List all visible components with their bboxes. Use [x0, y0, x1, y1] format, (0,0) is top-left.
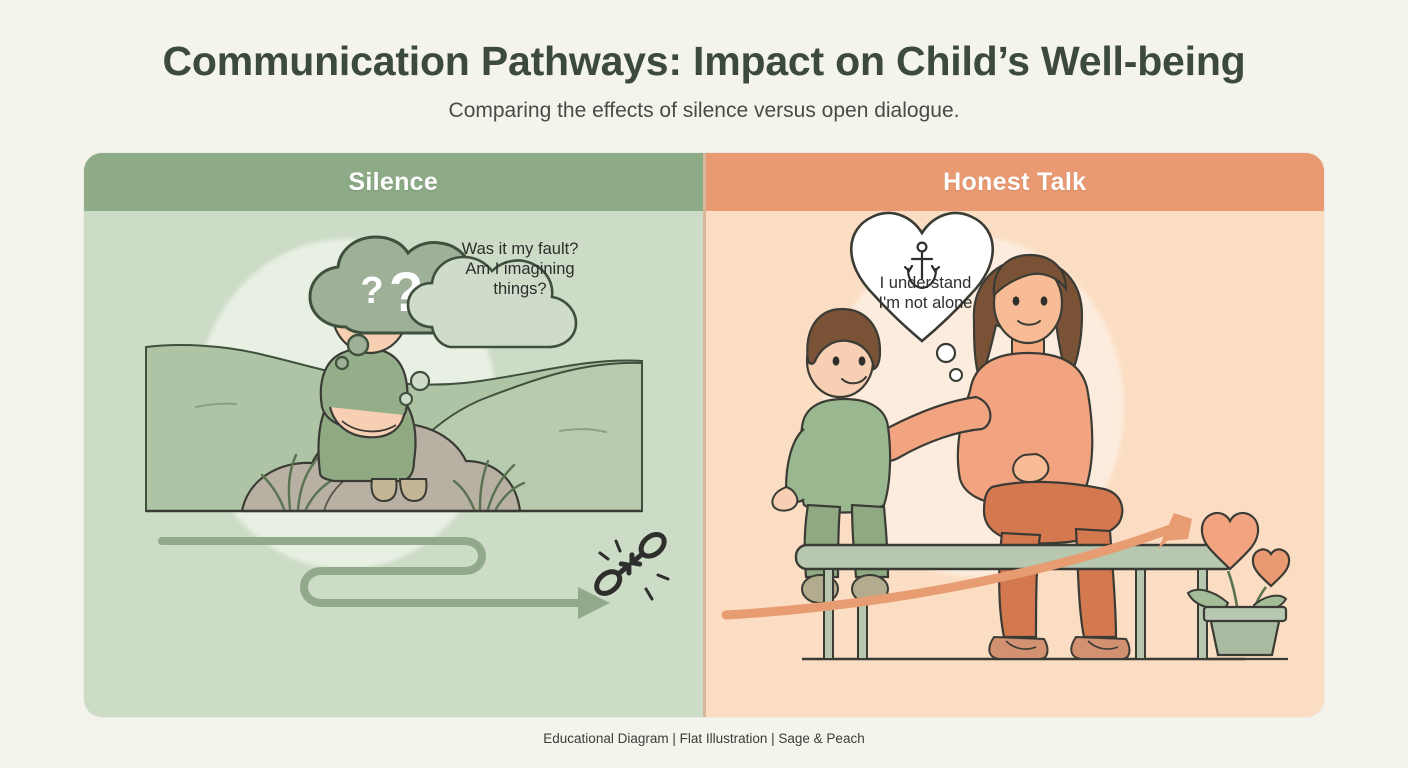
page-title: Communication Pathways: Impact on Child’… — [0, 38, 1408, 85]
page-subtitle: Comparing the effects of silence versus … — [0, 99, 1408, 123]
comparison-frame: Silence — [84, 153, 1324, 717]
honest-talk-illustration — [706, 211, 1325, 717]
broken-chain-icon — [592, 530, 668, 599]
panel-honest-talk-header: Honest Talk — [706, 153, 1325, 211]
diagram-page: Communication Pathways: Impact on Child’… — [0, 0, 1408, 768]
honest-talk-scene: I understand I'm not alone — [706, 211, 1325, 717]
footer-caption: Educational Diagram | Flat Illustration … — [0, 731, 1408, 746]
svg-text:?: ? — [360, 270, 383, 312]
panel-honest-talk-title: Honest Talk — [943, 168, 1086, 197]
panel-silence: Silence — [84, 153, 703, 717]
winding-path-arrow — [162, 541, 610, 619]
panel-honest-talk: Honest Talk — [703, 153, 1325, 717]
panel-silence-title: Silence — [348, 168, 438, 197]
silence-scene: ? ? ? — [84, 211, 703, 717]
silence-illustration: ? ? ? — [84, 211, 703, 717]
panel-silence-header: Silence — [84, 153, 703, 211]
